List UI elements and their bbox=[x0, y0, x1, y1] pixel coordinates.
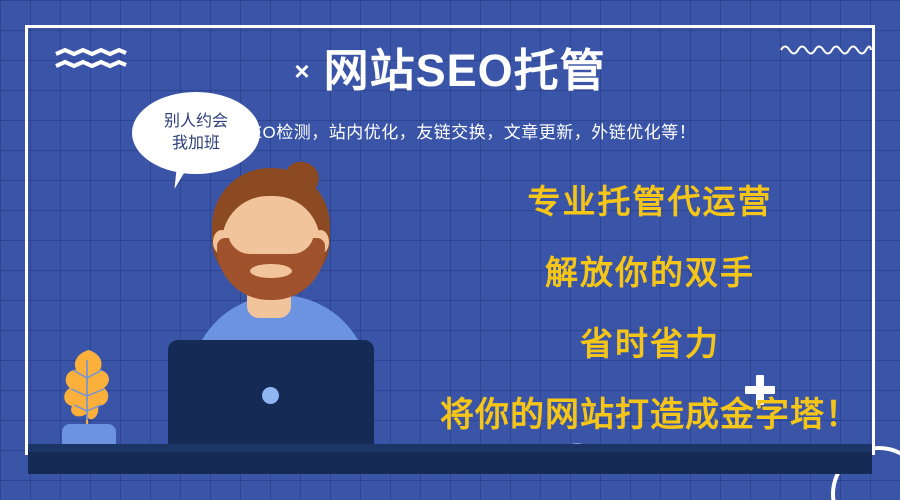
times-icon: × bbox=[294, 58, 309, 84]
page-title: 网站SEO托管 bbox=[324, 48, 606, 93]
copy-line-4: 将你的网站打造成金字塔！ bbox=[420, 398, 880, 432]
character-cheeks bbox=[228, 232, 314, 254]
copy-line-1: 专业托管代运营 bbox=[420, 185, 880, 218]
title-row: × 网站SEO托管 bbox=[0, 48, 900, 93]
character-mouth bbox=[250, 264, 292, 278]
speech-bubble-line-2: 我加班 bbox=[172, 133, 220, 155]
marketing-copy-block: 专业托管代运营 解放你的双手 省时省力 将你的网站打造成金字塔！ bbox=[420, 185, 880, 432]
seo-promo-poster: × 网站SEO托管 含：SEO检测，站内优化，友链交换，文章更新，外链优化等！ … bbox=[0, 0, 900, 500]
copy-line-3: 省时省力 bbox=[420, 327, 880, 360]
desk-surface bbox=[28, 452, 872, 474]
copy-line-2: 解放你的双手 bbox=[420, 256, 880, 289]
speech-bubble-line-1: 别人约会 bbox=[164, 111, 228, 133]
potted-plant-icon bbox=[60, 348, 118, 430]
laptop-logo-dot bbox=[262, 387, 279, 404]
